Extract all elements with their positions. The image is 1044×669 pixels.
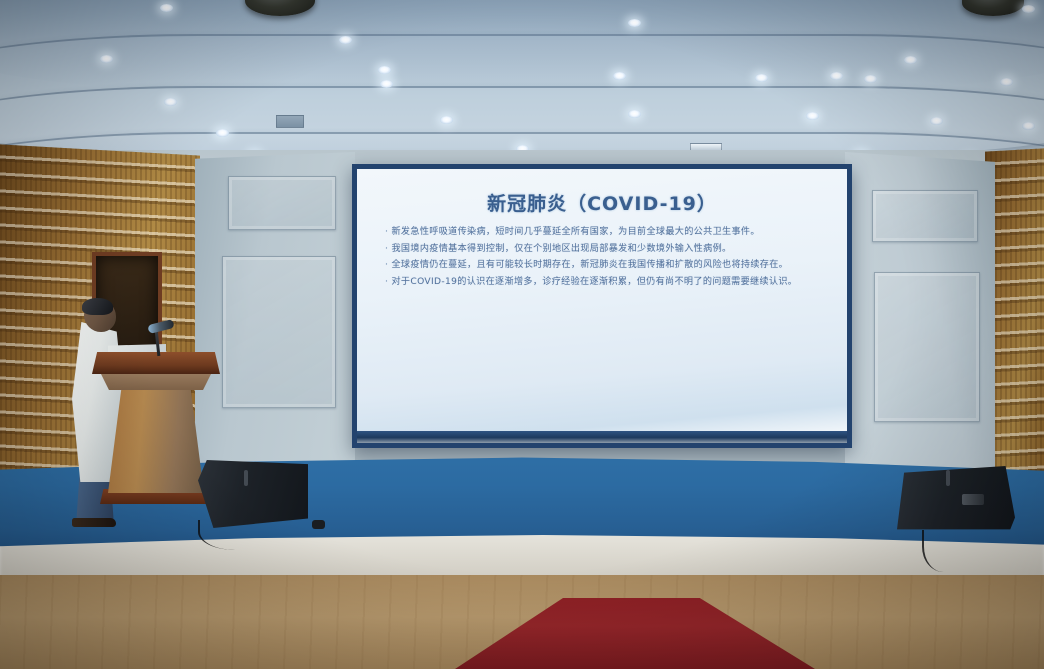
monitor-handle xyxy=(946,470,950,486)
ceiling-vent xyxy=(276,115,304,128)
monitor-handle xyxy=(244,470,248,486)
ceiling-downlight xyxy=(628,19,641,27)
ceiling-downlight xyxy=(1000,78,1013,86)
slide-bullet: 对于COVID-19的认识在逐渐增多，诊疗经验在逐渐积累，但仍有尚不明了的问题需… xyxy=(385,275,823,291)
ceiling-downlight xyxy=(930,117,943,125)
floor-connector xyxy=(312,520,325,529)
ceiling-downlight xyxy=(864,75,877,83)
ceiling-downlight xyxy=(440,116,453,124)
stage-monitor-right xyxy=(897,466,1015,532)
slide-bullet-list: 新发急性呼吸道传染病，短时间几乎蔓延全所有国家，为目前全球最大的公共卫生事件。 … xyxy=(357,225,847,291)
wall-panel-molding xyxy=(228,176,336,230)
podium-neck xyxy=(100,372,212,390)
ceiling-downlight xyxy=(216,129,229,137)
ceiling-downlight xyxy=(100,55,113,63)
ceiling-downlight xyxy=(613,72,626,80)
podium-top xyxy=(92,352,220,374)
ceiling-downlight xyxy=(628,110,641,118)
ceiling-downlight xyxy=(904,56,917,64)
projection-screen: 新冠肺炎（COVID-19） 新发急性呼吸道传染病，短时间几乎蔓延全所有国家，为… xyxy=(357,169,847,443)
ceiling-downlight xyxy=(1022,5,1035,13)
ceiling-downlight xyxy=(160,4,173,12)
slide-bullet: 新发急性呼吸道传染病，短时间几乎蔓延全所有国家，为目前全球最大的公共卫生事件。 xyxy=(385,225,823,241)
ceiling-downlight xyxy=(164,98,177,106)
podium-body xyxy=(108,388,204,493)
ceiling-downlight xyxy=(380,80,393,88)
ceiling-downlight xyxy=(830,72,843,80)
ceiling-downlight xyxy=(1022,122,1035,130)
presenter-shoe xyxy=(72,518,116,527)
slide-bullet: 我国境内疫情基本得到控制，仅在个别地区出现局部暴发和少数境外输入性病例。 xyxy=(385,242,823,258)
presentation-hall-photo: 新冠肺炎（COVID-19） 新发急性呼吸道传染病，短时间几乎蔓延全所有国家，为… xyxy=(0,0,1044,669)
wall-panel-molding xyxy=(222,256,336,408)
ceiling-downlight xyxy=(806,112,819,120)
ceiling-downlight xyxy=(755,74,768,82)
slide-footer-bar xyxy=(357,431,847,443)
presenter-hair xyxy=(82,298,113,315)
projection-screen-frame: 新冠肺炎（COVID-19） 新发急性呼吸道传染病，短时间几乎蔓延全所有国家，为… xyxy=(352,164,852,448)
slide-bullet: 全球疫情仍在蔓延，且有可能较长时期存在，新冠肺炎在我国传播和扩散的风险也将持续存… xyxy=(385,258,823,274)
stage-monitor-left xyxy=(198,460,308,528)
ceiling-downlight xyxy=(339,36,352,44)
wall-panel-molding xyxy=(872,190,978,242)
wall-panel-molding xyxy=(874,272,980,422)
ceiling-downlight xyxy=(378,66,391,74)
slide-title: 新冠肺炎（COVID-19） xyxy=(357,189,847,216)
monitor-badge xyxy=(962,494,984,505)
